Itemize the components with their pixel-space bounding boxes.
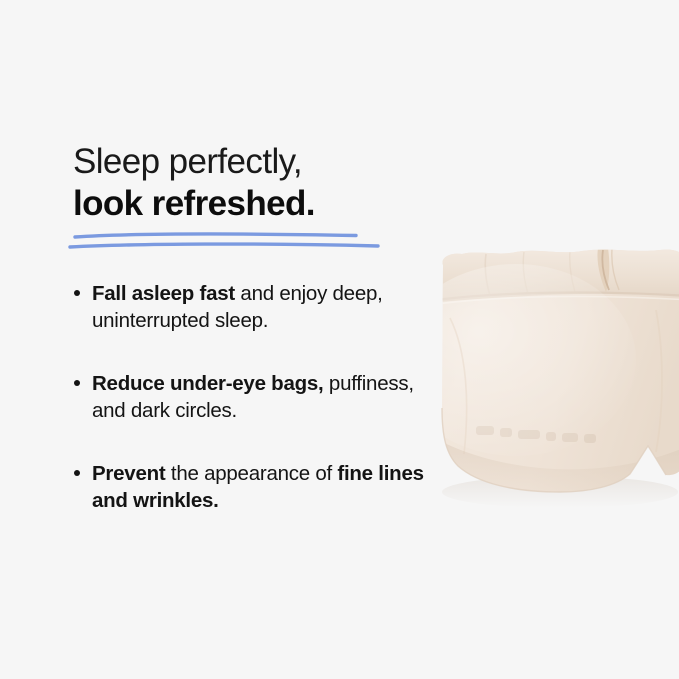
benefit-2-bold: Reduce under-eye bags, <box>92 372 323 395</box>
page-title: Sleep perfectly, look refreshed. <box>73 140 423 226</box>
bullet-dot-icon <box>74 290 80 296</box>
benefit-3-regular: the appearance of <box>165 462 337 485</box>
bullet-dot-icon <box>74 380 80 386</box>
list-item: Reduce under-eye bags, puffiness, and da… <box>73 370 433 424</box>
bullet-dot-icon <box>74 470 80 476</box>
list-item: Prevent the appearance of fine lines and… <box>73 460 433 514</box>
headline-line-2: look refreshed. <box>73 182 423 226</box>
underline-stroke-top <box>75 234 356 237</box>
benefits-list: Fall asleep fast and enjoy deep, uninter… <box>73 280 433 514</box>
headline-line-1: Sleep perfectly, <box>73 140 423 184</box>
benefit-3-bold-lead: Prevent <box>92 462 165 485</box>
headline-block: Sleep perfectly, look refreshed. <box>73 140 423 226</box>
product-image <box>420 240 679 530</box>
product-feature-card: Sleep perfectly, look refreshed. Fall as… <box>0 0 679 679</box>
silk-sleep-mask-illustration <box>420 240 679 530</box>
underline-stroke-bottom <box>70 244 378 247</box>
hand-drawn-underline <box>68 228 398 258</box>
list-item: Fall asleep fast and enjoy deep, uninter… <box>73 280 433 334</box>
benefit-1-bold: Fall asleep fast <box>92 282 235 305</box>
